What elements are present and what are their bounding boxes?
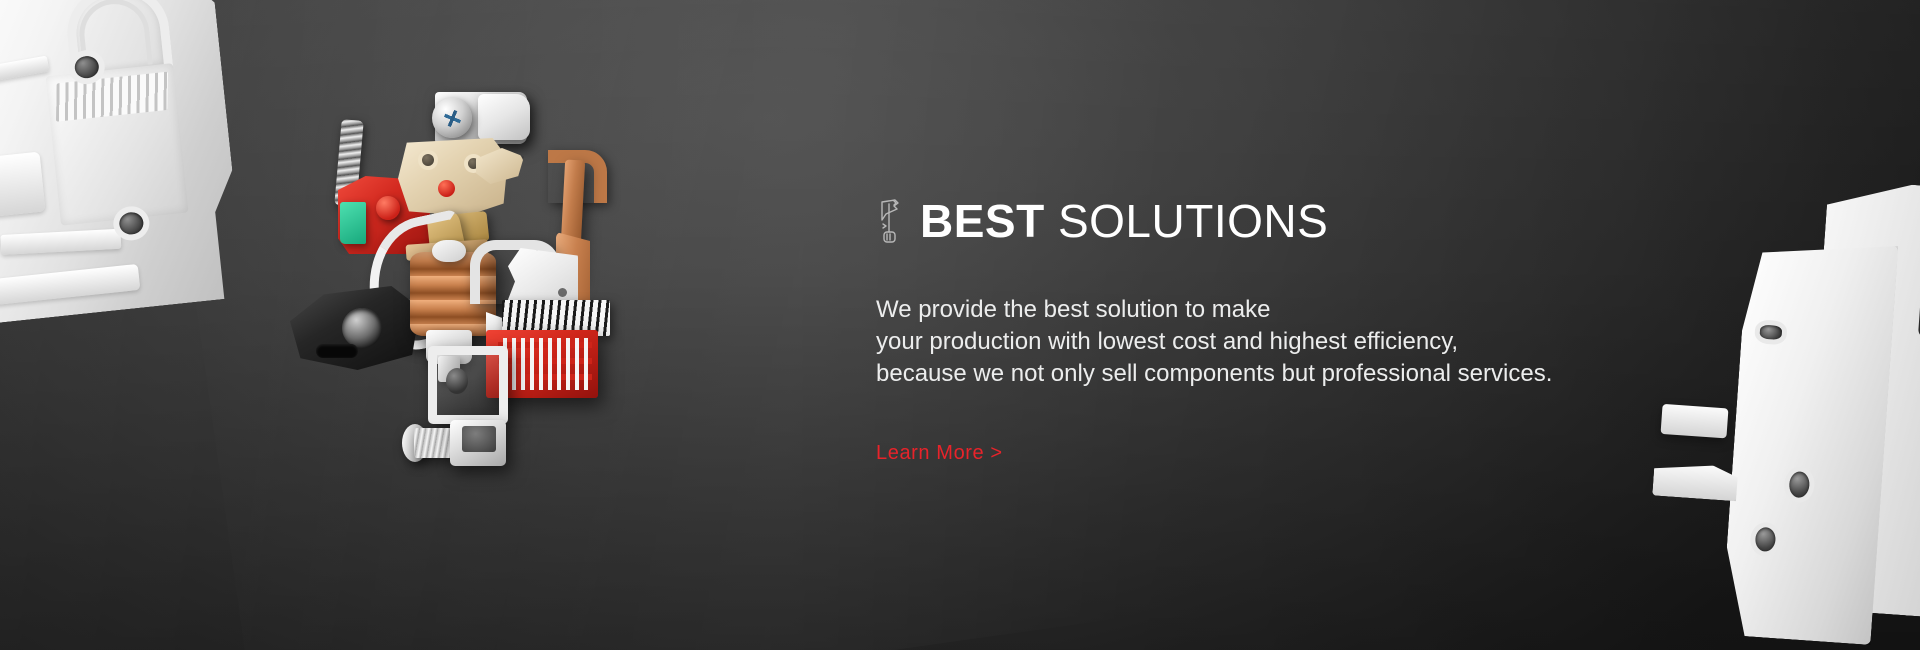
coil-bobbin-cap [432, 240, 466, 262]
arc-chute-slots [498, 338, 592, 390]
banner-content: BEST SOLUTIONS We provide the best solut… [876, 196, 1696, 465]
shield-plate-hole [558, 288, 567, 297]
chrome-clip [478, 94, 530, 140]
hero-banner: BEST SOLUTIONS We provide the best solut… [0, 0, 1920, 650]
black-base-slot [316, 344, 358, 358]
side-plate-front [1721, 235, 1899, 644]
left-product-image [0, 0, 280, 349]
green-insulator [340, 202, 366, 244]
housing-rib [0, 152, 46, 219]
description-line-2: your production with lowest cost and hig… [876, 326, 1696, 358]
red-pivot-dot [438, 180, 455, 197]
terminal-nut-bore [462, 426, 496, 452]
center-product-image [280, 72, 680, 492]
page-title-text: BEST SOLUTIONS [920, 197, 1328, 245]
description-line-3: because we not only sell components but … [876, 358, 1696, 390]
black-base-bore [342, 308, 382, 348]
page-title: BEST SOLUTIONS [876, 196, 1696, 246]
description-line-1: We provide the best solution to make [876, 294, 1696, 326]
red-pivot-dot [376, 196, 400, 220]
title-strong: BEST [920, 195, 1045, 247]
banner-description: We provide the best solution to make you… [876, 294, 1696, 390]
flag-outline-icon [876, 196, 906, 246]
terminal-cage-bore [446, 368, 468, 394]
side-plate-tab [1652, 461, 1738, 501]
terminal-cage-clamp [428, 346, 508, 424]
title-light: SOLUTIONS [1058, 195, 1328, 247]
learn-more-link[interactable]: Learn More > [876, 442, 1003, 465]
side-plate-hole [1759, 325, 1782, 341]
mechanism-hole [422, 154, 434, 166]
